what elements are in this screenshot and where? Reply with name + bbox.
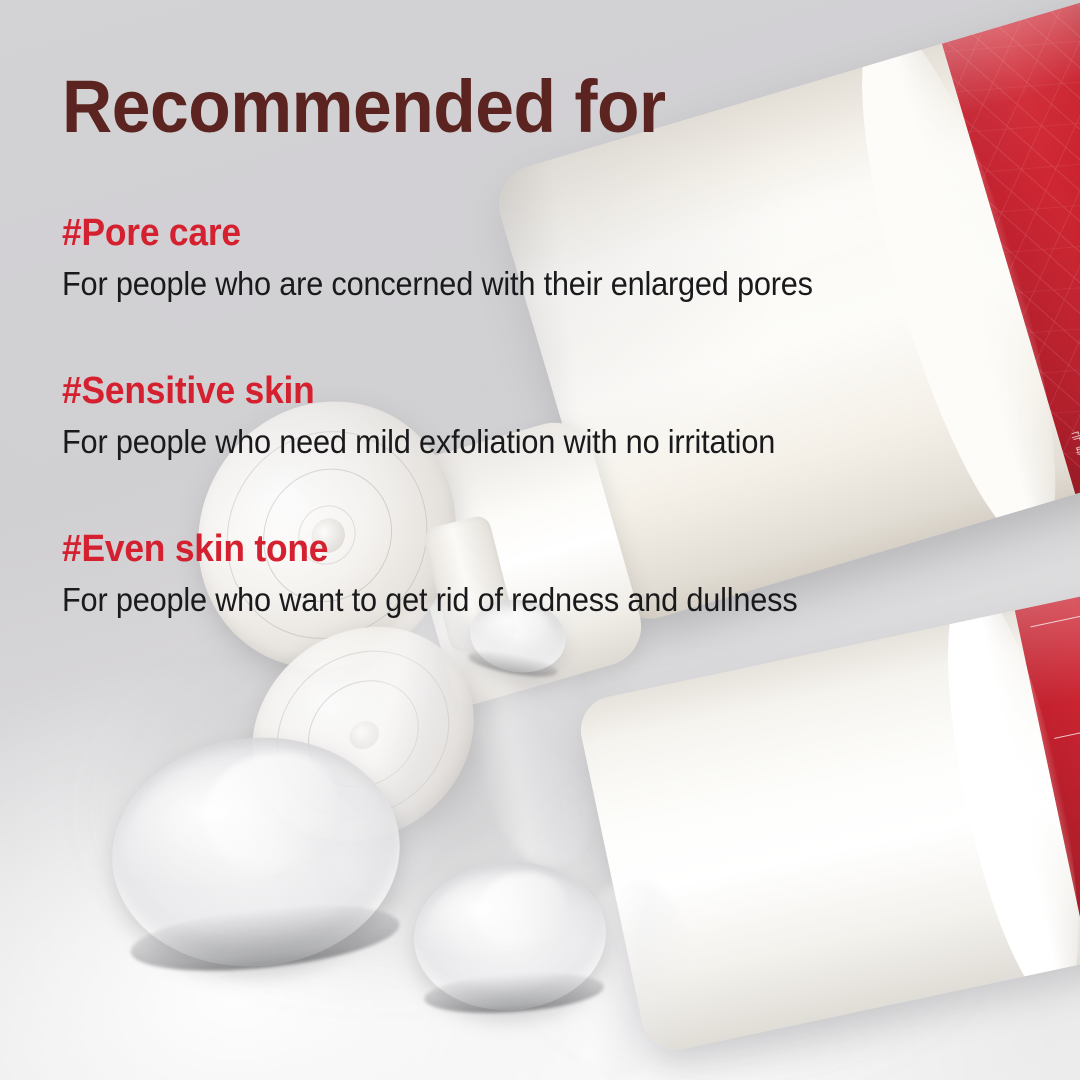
benefit-description: For people who need mild exfoliation wit… bbox=[62, 422, 775, 462]
benefit-item-sensitive-skin: #Sensitive skin For people who need mild… bbox=[62, 370, 829, 461]
benefit-description: For people who want to get rid of rednes… bbox=[62, 580, 797, 620]
text-overlay: Recommended for #Pore care For people wh… bbox=[0, 0, 1080, 1080]
benefit-tag: #Sensitive skin bbox=[62, 370, 775, 413]
product-infographic: 피부 영양 공급 및 보습 효과가 있는 MADE IN KOREA 제조원 및… bbox=[0, 0, 1080, 1080]
benefit-description: For people who are concerned with their … bbox=[62, 264, 813, 304]
benefit-tag: #Pore care bbox=[62, 212, 813, 255]
benefit-tag: #Even skin tone bbox=[62, 528, 797, 571]
benefit-item-even-skin-tone: #Even skin tone For people who want to g… bbox=[62, 528, 853, 619]
benefit-item-pore-care: #Pore care For people who are concerned … bbox=[62, 212, 869, 303]
page-title: Recommended for bbox=[62, 70, 666, 144]
